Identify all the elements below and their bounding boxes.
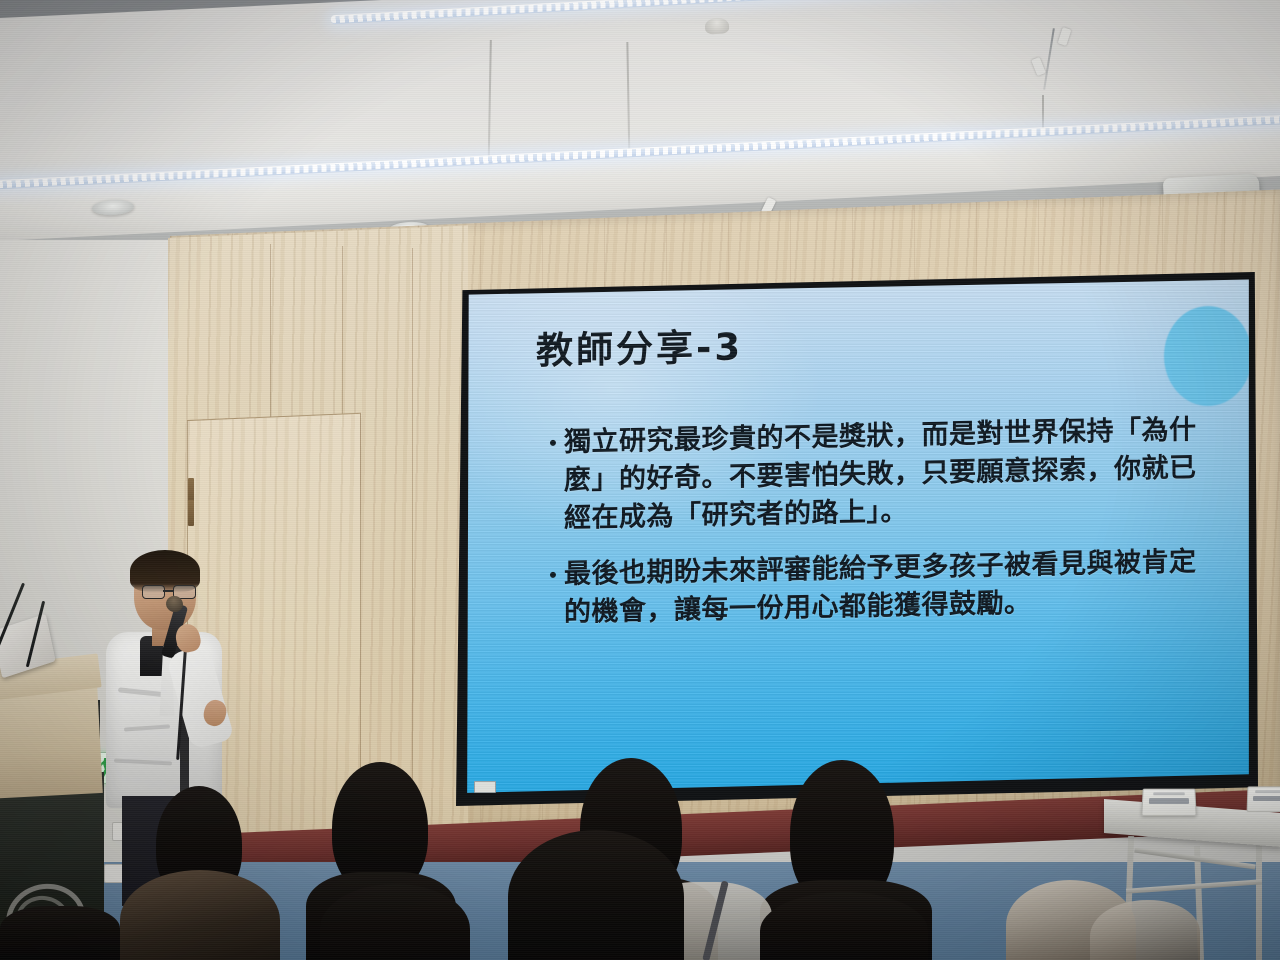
slide-content: 教師分享-3 • 獨立研究最珍貴的不是獎狀，而是對世界保持「為什 麼」的好奇。不… <box>464 278 1252 796</box>
slide-title: 教師分享-3 <box>536 316 743 374</box>
audience-head <box>508 830 684 960</box>
slide-bullet-list: • 獨立研究最珍貴的不是獎狀，而是對世界保持「為什 麼」的好奇。不要害怕失敗，只… <box>542 411 1232 651</box>
list-item: • 獨立研究最珍貴的不是獎狀，而是對世界保持「為什 麼」的好奇。不要害怕失敗，只… <box>542 411 1232 539</box>
bullet-marker: • <box>542 424 564 462</box>
name-card-text <box>1153 792 1185 795</box>
name-card-text <box>1255 790 1280 793</box>
table-leg <box>1256 840 1262 960</box>
screen-brand-label <box>474 781 496 793</box>
projection-screen[interactable]: 教師分享-3 • 獨立研究最珍貴的不是獎狀，而是對世界保持「為什 麼」的好奇。不… <box>464 278 1252 796</box>
photo-scene: ← 教師分享-3 • 獨立研究最珍貴的不是獎狀，而是對世界保持「為什 麼」的好奇… <box>0 0 1280 960</box>
glasses-lens <box>142 585 165 599</box>
list-item: • 最後也期盼未來評審能給予更多孩子被看見與被肯定 的機會，讓每一份用心都能獲得… <box>542 543 1232 633</box>
bullet-body: 最後也期盼未來評審能給予更多孩子被看見與被肯定 的機會，讓每一份用心都能獲得鼓勵… <box>564 543 1197 632</box>
panel-seam <box>412 248 413 834</box>
glasses-bridge <box>163 590 173 592</box>
podium-body <box>0 683 103 799</box>
name-card-text <box>1253 796 1280 801</box>
door-hinge <box>188 500 194 526</box>
smoke-detector-icon <box>705 17 730 34</box>
audience-head <box>120 870 280 960</box>
bullet-body: 獨立研究最珍貴的不是獎狀，而是對世界保持「為什 麼」的好奇。不要害怕失敗，只要願… <box>564 411 1197 538</box>
name-card <box>1247 786 1280 812</box>
bullet-marker: • <box>542 556 564 594</box>
audience-shoulders <box>0 906 120 960</box>
name-card-text <box>1149 798 1189 804</box>
audience-head <box>760 892 928 960</box>
name-card <box>1141 789 1196 816</box>
eyeglasses-icon <box>142 585 194 598</box>
